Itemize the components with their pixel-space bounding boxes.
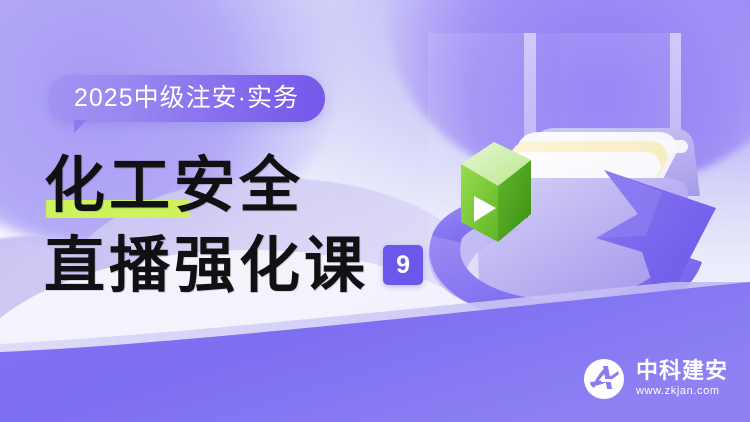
episode-number-badge: 9 bbox=[383, 245, 423, 285]
headline-row-1: 化工安全 bbox=[44, 148, 464, 222]
brand-text: 中科建安 www.zkjan.com bbox=[636, 361, 728, 397]
course-badge: 2025中级注安·实务 bbox=[48, 75, 325, 122]
headline-block: 化工安全 直播强化课 9 bbox=[44, 148, 464, 302]
brand-swoosh-icon bbox=[583, 358, 625, 400]
course-badge-label: 2025中级注安·实务 bbox=[74, 86, 299, 111]
headline-line-2: 直播强化课 bbox=[44, 235, 369, 296]
headline-line-1: 化工安全 bbox=[44, 155, 304, 216]
headline-row-2: 直播强化课 9 bbox=[44, 228, 464, 302]
brand-logo: 中科建安 www.zkjan.com bbox=[583, 358, 728, 400]
brand-url: www.zkjan.com bbox=[636, 386, 728, 397]
course-banner: 2025中级注安·实务 化工安全 直播强化课 9 中科建安 www.zkj bbox=[0, 0, 750, 422]
brand-name: 中科建安 bbox=[636, 361, 728, 383]
course-badge-tail bbox=[74, 120, 87, 133]
course-badge-pill: 2025中级注安·实务 bbox=[48, 75, 325, 122]
